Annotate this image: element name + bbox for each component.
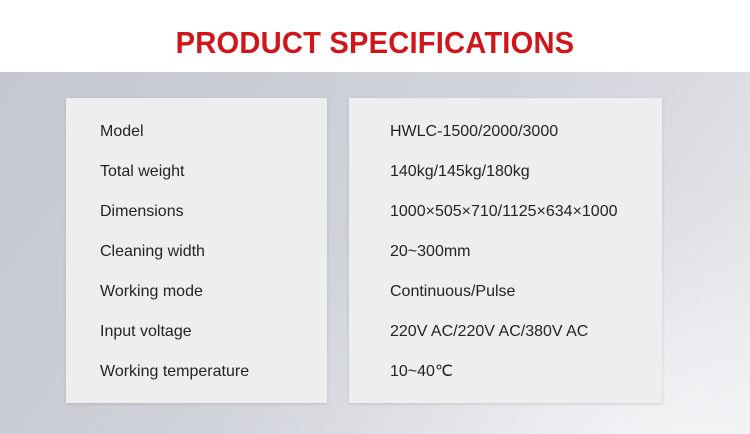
spec-value: 1000×505×710/1125×634×1000: [390, 192, 703, 232]
spec-value: 20~300mm: [390, 232, 703, 272]
spec-label: Working temperature: [100, 352, 361, 392]
spec-values-list: HWLC-1500/2000/3000 140kg/145kg/180kg 10…: [349, 112, 703, 392]
spec-value: 10~40℃: [390, 352, 703, 392]
page-title: PRODUCT SPECIFICATIONS: [23, 27, 728, 59]
spec-value: Continuous/Pulse: [390, 272, 703, 312]
spec-value: 220V AC/220V AC/380V AC: [390, 312, 703, 352]
spec-label: Total weight: [100, 152, 361, 192]
spec-label: Model: [100, 112, 361, 152]
spec-values-panel: HWLC-1500/2000/3000 140kg/145kg/180kg 10…: [349, 98, 662, 403]
spec-label: Working mode: [100, 272, 361, 312]
spec-labels-panel: Model Total weight Dimensions Cleaning w…: [66, 98, 327, 403]
spec-label: Cleaning width: [100, 232, 361, 272]
spec-label: Input voltage: [100, 312, 361, 352]
header-band: PRODUCT SPECIFICATIONS: [0, 0, 750, 72]
spec-value: HWLC-1500/2000/3000: [390, 112, 703, 152]
spec-value: 140kg/145kg/180kg: [390, 152, 703, 192]
product-specifications-page: PRODUCT SPECIFICATIONS Model Total weigh…: [0, 0, 750, 434]
spec-label: Dimensions: [100, 192, 361, 232]
spec-labels-list: Model Total weight Dimensions Cleaning w…: [66, 112, 361, 392]
